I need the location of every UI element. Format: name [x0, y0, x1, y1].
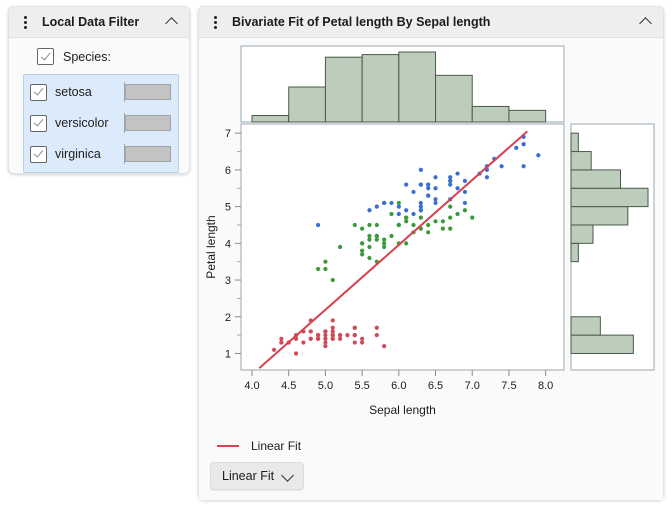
x-tick-label: 7.5 — [501, 380, 516, 392]
scatter-point-virginica[interactable] — [397, 205, 401, 209]
scatter-point-setosa[interactable] — [331, 318, 335, 322]
scatter-point-versicolor[interactable] — [433, 219, 437, 223]
right-histogram-bar — [571, 335, 633, 353]
bivariate-chart[interactable]: 4.04.55.05.56.06.57.07.58.01234567Sepal … — [199, 38, 663, 500]
scatter-point-virginica[interactable] — [404, 182, 408, 186]
scatter-point-versicolor[interactable] — [367, 256, 371, 260]
list-item-label: versicolor — [55, 116, 124, 130]
scatter-point-versicolor[interactable] — [331, 278, 335, 282]
x-tick-label: 5.0 — [318, 380, 333, 392]
species-group-row[interactable]: Species: — [37, 48, 189, 65]
scatter-point-versicolor[interactable] — [323, 260, 327, 264]
scatter-point-setosa[interactable] — [309, 329, 313, 333]
scatter-point-virginica[interactable] — [419, 182, 423, 186]
scatter-point-versicolor[interactable] — [397, 223, 401, 227]
scatter-point-setosa[interactable] — [323, 340, 327, 344]
scatter-point-setosa[interactable] — [345, 333, 349, 337]
chart-svg[interactable]: 4.04.55.05.56.06.57.07.58.01234567Sepal … — [199, 38, 663, 458]
scatter-point-versicolor[interactable] — [463, 208, 467, 212]
scatter-point-versicolor[interactable] — [316, 267, 320, 271]
filter-panel-body: Species: setosa versicolor — [9, 38, 189, 173]
x-axis-label: Sepal length — [369, 403, 436, 417]
plot-frame — [241, 124, 564, 370]
bar-fill — [125, 84, 171, 100]
scatter-point-setosa[interactable] — [323, 344, 327, 348]
y-tick-label: 2 — [225, 312, 231, 324]
scatter-point-versicolor[interactable] — [455, 212, 459, 216]
scatter-point-setosa[interactable] — [353, 340, 357, 344]
top-histogram-bar — [289, 87, 326, 122]
scatter-point-setosa[interactable] — [331, 337, 335, 341]
scatter-point-virginica[interactable] — [433, 175, 437, 179]
scatter-point-setosa[interactable] — [294, 351, 298, 355]
scatter-point-virginica[interactable] — [426, 182, 430, 186]
scatter-point-setosa[interactable] — [279, 340, 283, 344]
scatter-point-versicolor[interactable] — [375, 223, 379, 227]
scatter-point-versicolor[interactable] — [404, 241, 408, 245]
scatter-point-virginica[interactable] — [455, 186, 459, 190]
right-histogram-bar — [571, 207, 628, 225]
top-histogram-bar — [399, 52, 436, 122]
scatter-point-virginica[interactable] — [536, 153, 540, 157]
y-tick-label: 5 — [225, 202, 231, 214]
scatter-point-virginica[interactable] — [419, 208, 423, 212]
scatter-point-versicolor[interactable] — [353, 223, 357, 227]
scatter-point-virginica[interactable] — [389, 201, 393, 205]
right-histogram-bar — [571, 225, 593, 243]
bivariate-fit-panel: Bivariate Fit of Petal length By Sepal l… — [198, 6, 664, 500]
scatter-point-versicolor[interactable] — [389, 212, 393, 216]
scatter-point-setosa[interactable] — [323, 329, 327, 333]
scatter-point-versicolor[interactable] — [419, 216, 423, 220]
legend-label: Linear Fit — [251, 439, 302, 453]
scatter-point-setosa[interactable] — [331, 333, 335, 337]
local-data-filter-panel: Local Data Filter Species: setosa — [8, 6, 190, 174]
filter-panel-title: Local Data Filter — [42, 15, 139, 29]
kebab-menu-icon[interactable] — [207, 16, 223, 29]
scatter-point-setosa[interactable] — [331, 326, 335, 330]
right-histogram-bar — [571, 188, 648, 206]
setosa-checkbox[interactable] — [30, 84, 47, 101]
scatter-point-virginica[interactable] — [463, 179, 467, 183]
scatter-point-virginica[interactable] — [316, 223, 320, 227]
setosa-count-bar — [124, 84, 172, 100]
x-tick-label: 4.0 — [244, 380, 259, 392]
top-histogram-bar — [252, 116, 289, 122]
y-tick-label: 1 — [225, 348, 231, 360]
scatter-point-versicolor[interactable] — [367, 234, 371, 238]
scatter-point-virginica[interactable] — [367, 208, 371, 212]
scatter-point-setosa[interactable] — [353, 333, 357, 337]
scatter-point-versicolor[interactable] — [426, 230, 430, 234]
scatter-point-setosa[interactable] — [375, 326, 379, 330]
scatter-point-setosa[interactable] — [360, 337, 364, 341]
top-histogram-bar — [472, 106, 509, 122]
chevron-up-icon[interactable] — [167, 16, 178, 27]
scatter-point-virginica[interactable] — [463, 190, 467, 194]
scatter-point-setosa[interactable] — [323, 337, 327, 341]
scatter-point-setosa[interactable] — [360, 340, 364, 344]
scatter-point-virginica[interactable] — [433, 197, 437, 201]
scatter-point-virginica[interactable] — [419, 205, 423, 209]
scatter-point-versicolor[interactable] — [338, 245, 342, 249]
scatter-point-setosa[interactable] — [279, 337, 283, 341]
y-tick-label: 3 — [225, 275, 231, 287]
scatter-point-setosa[interactable] — [331, 329, 335, 333]
scatter-point-virginica[interactable] — [522, 164, 526, 168]
scatter-point-versicolor[interactable] — [404, 216, 408, 220]
scatter-point-versicolor[interactable] — [382, 241, 386, 245]
versicolor-count-bar — [124, 115, 172, 131]
scatter-point-virginica[interactable] — [448, 179, 452, 183]
scatter-point-versicolor[interactable] — [404, 219, 408, 223]
scatter-point-virginica[interactable] — [448, 175, 452, 179]
scatter-point-virginica[interactable] — [411, 190, 415, 194]
list-item-label: virginica — [55, 147, 124, 161]
scatter-point-virginica[interactable] — [514, 146, 518, 150]
filter-panel-header: Local Data Filter — [9, 7, 189, 38]
scatter-point-virginica[interactable] — [375, 205, 379, 209]
x-tick-label: 6.0 — [391, 380, 406, 392]
x-tick-label: 7.0 — [465, 380, 480, 392]
scatter-point-versicolor[interactable] — [323, 267, 327, 271]
scatter-point-virginica[interactable] — [426, 193, 430, 197]
scatter-point-virginica[interactable] — [455, 171, 459, 175]
plot-panel-body: 4.04.55.05.56.06.57.07.58.01234567Sepal … — [199, 38, 663, 500]
top-histogram-bar — [509, 110, 546, 122]
scatter-point-versicolor[interactable] — [441, 227, 445, 231]
chevron-down-icon — [282, 470, 294, 482]
scatter-point-versicolor[interactable] — [360, 241, 364, 245]
scatter-point-versicolor[interactable] — [360, 227, 364, 231]
x-tick-label: 4.5 — [281, 380, 296, 392]
x-tick-label: 5.5 — [354, 380, 369, 392]
scatter-point-versicolor[interactable] — [411, 223, 415, 227]
scatter-point-versicolor[interactable] — [448, 205, 452, 209]
scatter-point-versicolor[interactable] — [470, 216, 474, 220]
scatter-point-setosa[interactable] — [309, 337, 313, 341]
scatter-point-versicolor[interactable] — [375, 234, 379, 238]
scatter-point-virginica[interactable] — [433, 201, 437, 205]
scatter-point-virginica[interactable] — [419, 201, 423, 205]
scatter-point-virginica[interactable] — [382, 201, 386, 205]
list-item[interactable]: virginica — [30, 143, 172, 165]
scatter-point-virginica[interactable] — [433, 186, 437, 190]
scatter-point-versicolor[interactable] — [360, 249, 364, 253]
list-item[interactable]: setosa — [30, 81, 172, 103]
species-group-label: Species: — [63, 50, 111, 64]
linear-fit-button-label: Linear Fit — [222, 469, 274, 483]
species-group-checkbox[interactable] — [37, 48, 54, 65]
scatter-point-setosa[interactable] — [382, 344, 386, 348]
scatter-point-setosa[interactable] — [338, 333, 342, 337]
top-histogram-bar — [325, 57, 362, 122]
scatter-point-virginica[interactable] — [411, 212, 415, 216]
app-root: Local Data Filter Species: setosa — [0, 0, 672, 506]
scatter-point-virginica[interactable] — [419, 168, 423, 172]
scatter-point-setosa[interactable] — [272, 348, 276, 352]
right-histogram-bar — [571, 133, 578, 151]
kebab-menu-icon[interactable] — [17, 16, 33, 29]
virginica-count-bar — [124, 146, 172, 162]
scatter-point-virginica[interactable] — [522, 142, 526, 146]
scatter-point-setosa[interactable] — [353, 326, 357, 330]
scatter-point-setosa[interactable] — [301, 340, 305, 344]
bar-fill — [125, 146, 171, 162]
scatter-point-virginica[interactable] — [448, 182, 452, 186]
scatter-point-versicolor[interactable] — [367, 238, 371, 242]
scatter-point-virginica[interactable] — [463, 201, 467, 205]
scatter-point-setosa[interactable] — [316, 333, 320, 337]
y-tick-label: 6 — [225, 165, 231, 177]
scatter-point-versicolor[interactable] — [389, 234, 393, 238]
bar-fill — [125, 115, 171, 131]
y-tick-label: 4 — [225, 238, 231, 250]
scatter-point-versicolor[interactable] — [367, 245, 371, 249]
plot-footer-toolbar: Linear Fit — [210, 462, 304, 490]
scatter-point-virginica[interactable] — [426, 186, 430, 190]
top-histogram-bar — [362, 55, 399, 122]
virginica-checkbox[interactable] — [30, 146, 47, 163]
linear-fit-dropdown-button[interactable]: Linear Fit — [210, 462, 304, 490]
scatter-point-versicolor[interactable] — [426, 223, 430, 227]
scatter-point-virginica[interactable] — [500, 164, 504, 168]
scatter-point-setosa[interactable] — [338, 337, 342, 341]
right-histogram-bar — [571, 243, 578, 261]
scatter-point-virginica[interactable] — [485, 175, 489, 179]
x-tick-label: 6.5 — [428, 380, 443, 392]
scatter-point-virginica[interactable] — [397, 212, 401, 216]
scatter-point-versicolor[interactable] — [397, 201, 401, 205]
scatter-point-setosa[interactable] — [375, 333, 379, 337]
list-item-label: setosa — [55, 85, 124, 99]
y-axis-label: Petal length — [204, 215, 218, 278]
chevron-up-icon[interactable] — [641, 16, 652, 27]
right-histogram-bar — [571, 170, 621, 188]
right-histogram-bar — [571, 152, 591, 170]
species-value-list: setosa versicolor virgin — [23, 74, 179, 173]
scatter-point-versicolor[interactable] — [360, 252, 364, 256]
scatter-point-versicolor[interactable] — [448, 216, 452, 220]
plot-panel-title: Bivariate Fit of Petal length By Sepal l… — [232, 15, 490, 29]
scatter-point-virginica[interactable] — [404, 208, 408, 212]
scatter-point-setosa[interactable] — [316, 337, 320, 341]
plot-panel-header: Bivariate Fit of Petal length By Sepal l… — [199, 7, 663, 38]
scatter-point-versicolor[interactable] — [382, 245, 386, 249]
scatter-point-versicolor[interactable] — [375, 238, 379, 242]
scatter-point-versicolor[interactable] — [382, 238, 386, 242]
scatter-point-versicolor[interactable] — [448, 227, 452, 231]
top-histogram-bar — [436, 75, 473, 122]
x-tick-label: 8.0 — [538, 380, 553, 392]
versicolor-checkbox[interactable] — [30, 115, 47, 132]
scatter-point-setosa[interactable] — [323, 333, 327, 337]
list-item[interactable]: versicolor — [30, 112, 172, 134]
scatter-point-versicolor[interactable] — [441, 219, 445, 223]
scatter-point-versicolor[interactable] — [367, 223, 371, 227]
y-tick-label: 7 — [225, 128, 231, 140]
right-histogram-bar — [571, 317, 600, 335]
